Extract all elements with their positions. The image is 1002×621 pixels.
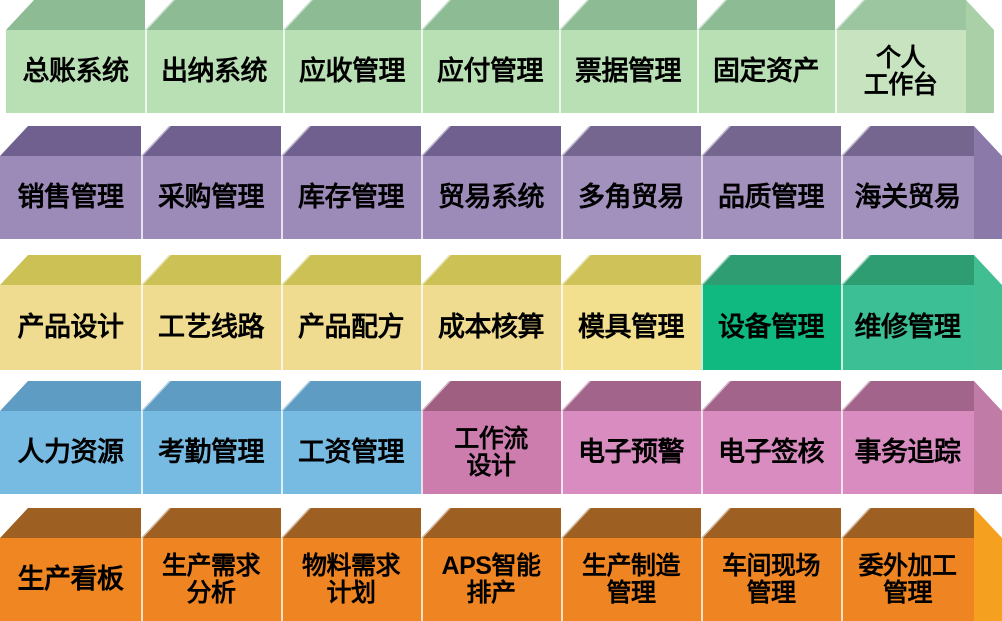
module-label: 电子预警 — [578, 438, 684, 467]
module-block[interactable]: 委外加工 管理 — [841, 508, 974, 621]
block-front-face: 成本核算 — [421, 285, 561, 370]
block-front-face: 车间现场 管理 — [701, 538, 841, 621]
block-top-face — [283, 0, 421, 30]
block-divider — [697, 30, 699, 113]
module-block[interactable]: 票据管理 — [559, 0, 697, 113]
module-label: 电子签核 — [718, 438, 824, 467]
block-divider — [701, 156, 703, 239]
block-front-face: 生产需求 分析 — [141, 538, 281, 621]
block-top-face — [841, 508, 974, 538]
module-label: 成本核算 — [438, 313, 544, 342]
block-top-face — [281, 381, 421, 411]
block-divider — [421, 30, 423, 113]
module-block[interactable]: 多角贸易 — [561, 126, 701, 239]
block-front-face: 事务追踪 — [841, 411, 974, 494]
module-label: 个人 工作台 — [864, 45, 938, 99]
block-front-face: 总账系统 — [6, 30, 145, 113]
block-front-face: APS智能 排产 — [421, 538, 561, 621]
block-front-face: 考勤管理 — [141, 411, 281, 494]
block-top-face — [141, 255, 281, 285]
module-block[interactable]: 应付管理 — [421, 0, 559, 113]
module-block[interactable]: 车间现场 管理 — [701, 508, 841, 621]
block-top-face — [561, 255, 701, 285]
module-block[interactable]: 考勤管理 — [141, 381, 281, 494]
module-label: 票据管理 — [575, 57, 681, 86]
block-divider — [841, 411, 843, 494]
module-row-supply-chain: 销售管理采购管理库存管理贸易系统多角贸易品质管理海关贸易 — [0, 126, 1002, 239]
block-divider — [561, 411, 563, 494]
module-block[interactable]: 生产看板 — [0, 508, 141, 621]
block-divider — [283, 30, 285, 113]
module-label: 车间现场 管理 — [722, 553, 820, 607]
block-top-face — [141, 508, 281, 538]
module-label: 生产看板 — [18, 565, 124, 594]
module-block[interactable]: 库存管理 — [281, 126, 421, 239]
block-top-face — [561, 508, 701, 538]
module-label: 设备管理 — [718, 313, 824, 342]
module-row-finance: 总账系统出纳系统应收管理应付管理票据管理固定资产个人 工作台 — [0, 0, 1002, 113]
block-divider — [835, 30, 837, 113]
module-label: 品质管理 — [718, 183, 824, 212]
module-block[interactable]: 物料需求 计划 — [281, 508, 421, 621]
block-front-face: 工作流 设计 — [421, 411, 561, 494]
block-top-face — [421, 381, 561, 411]
block-front-face: 库存管理 — [281, 156, 421, 239]
block-divider — [701, 285, 703, 370]
block-divider — [561, 538, 563, 621]
module-block[interactable]: 固定资产 — [697, 0, 835, 113]
block-top-face — [561, 381, 701, 411]
module-label: 应收管理 — [299, 57, 405, 86]
module-block[interactable]: 海关贸易 — [841, 126, 974, 239]
block-divider — [281, 538, 283, 621]
module-label: APS智能 排产 — [442, 553, 541, 607]
block-front-face: 出纳系统 — [145, 30, 283, 113]
module-block[interactable]: 生产制造 管理 — [561, 508, 701, 621]
block-front-face: 应收管理 — [283, 30, 421, 113]
block-front-face: 电子签核 — [701, 411, 841, 494]
block-divider — [701, 538, 703, 621]
block-top-face — [841, 255, 974, 285]
block-top-face — [0, 508, 141, 538]
block-top-face — [835, 0, 966, 30]
block-front-face: 物料需求 计划 — [281, 538, 421, 621]
block-side-face — [974, 255, 1002, 370]
module-block[interactable]: 采购管理 — [141, 126, 281, 239]
block-front-face: 品质管理 — [701, 156, 841, 239]
module-label: 应付管理 — [437, 57, 543, 86]
block-top-face — [421, 508, 561, 538]
block-top-face — [421, 255, 561, 285]
module-label: 生产需求 分析 — [162, 553, 260, 607]
block-top-face — [0, 126, 141, 156]
block-front-face: 工资管理 — [281, 411, 421, 494]
module-label: 生产制造 管理 — [582, 553, 680, 607]
module-block[interactable]: 设备管理 — [701, 255, 841, 370]
module-label: 事务追踪 — [855, 438, 961, 467]
module-block[interactable]: 个人 工作台 — [835, 0, 966, 113]
block-top-face — [559, 0, 697, 30]
block-front-face: 生产制造 管理 — [561, 538, 701, 621]
block-front-face: 多角贸易 — [561, 156, 701, 239]
block-top-face — [0, 255, 141, 285]
block-divider — [421, 285, 423, 370]
block-divider — [841, 156, 843, 239]
block-front-face: 人力资源 — [0, 411, 141, 494]
module-block[interactable]: 维修管理 — [841, 255, 974, 370]
module-label: 贸易系统 — [438, 183, 544, 212]
block-divider — [141, 538, 143, 621]
block-front-face: 采购管理 — [141, 156, 281, 239]
module-label: 产品配方 — [298, 313, 404, 342]
module-label: 模具管理 — [578, 313, 684, 342]
module-architecture-diagram: 总账系统出纳系统应收管理应付管理票据管理固定资产个人 工作台销售管理采购管理库存… — [0, 0, 1002, 621]
block-front-face: 产品配方 — [281, 285, 421, 370]
block-top-face — [701, 126, 841, 156]
module-block[interactable]: 贸易系统 — [421, 126, 561, 239]
block-top-face — [145, 0, 283, 30]
block-divider — [559, 30, 561, 113]
block-front-face: 海关贸易 — [841, 156, 974, 239]
module-block[interactable]: 产品配方 — [281, 255, 421, 370]
module-label: 工艺线路 — [158, 313, 264, 342]
block-top-face — [0, 381, 141, 411]
block-front-face: 工艺线路 — [141, 285, 281, 370]
module-block[interactable]: 产品设计 — [0, 255, 141, 370]
module-row-hr-workflow: 人力资源考勤管理工资管理工作流 设计电子预警电子签核事务追踪 — [0, 381, 1002, 494]
block-top-face — [141, 126, 281, 156]
block-divider — [141, 285, 143, 370]
block-front-face: 应付管理 — [421, 30, 559, 113]
module-block[interactable]: 人力资源 — [0, 381, 141, 494]
block-top-face — [281, 126, 421, 156]
module-block[interactable]: 电子预警 — [561, 381, 701, 494]
module-label: 维修管理 — [855, 313, 961, 342]
module-block[interactable]: 总账系统 — [6, 0, 145, 113]
block-side-face — [966, 0, 994, 113]
block-divider — [561, 156, 563, 239]
block-side-face — [974, 126, 1002, 239]
block-top-face — [841, 381, 974, 411]
block-top-face — [6, 0, 145, 30]
block-front-face: 模具管理 — [561, 285, 701, 370]
block-front-face: 维修管理 — [841, 285, 974, 370]
block-divider — [701, 411, 703, 494]
module-label: 多角贸易 — [578, 183, 684, 212]
module-block[interactable]: 模具管理 — [561, 255, 701, 370]
block-top-face — [141, 381, 281, 411]
module-block[interactable]: 工资管理 — [281, 381, 421, 494]
block-top-face — [841, 126, 974, 156]
block-top-face — [701, 255, 841, 285]
module-label: 库存管理 — [298, 183, 404, 212]
block-side-face — [974, 381, 1002, 494]
block-top-face — [701, 381, 841, 411]
block-top-face — [281, 255, 421, 285]
module-block[interactable]: 电子签核 — [701, 381, 841, 494]
block-front-face: 委外加工 管理 — [841, 538, 974, 621]
block-divider — [281, 156, 283, 239]
block-top-face — [421, 126, 561, 156]
block-divider — [281, 285, 283, 370]
block-divider — [421, 156, 423, 239]
block-front-face: 生产看板 — [0, 538, 141, 621]
module-label: 物料需求 计划 — [302, 553, 400, 607]
module-label: 产品设计 — [18, 313, 124, 342]
module-block[interactable]: 工作流 设计 — [421, 381, 561, 494]
module-label: 考勤管理 — [158, 438, 264, 467]
module-row-manufacturing: 生产看板生产需求 分析物料需求 计划APS智能 排产生产制造 管理车间现场 管理… — [0, 508, 1002, 621]
block-top-face — [421, 0, 559, 30]
block-side-face — [974, 508, 1002, 621]
module-label: 人力资源 — [18, 438, 124, 467]
module-label: 委外加工 管理 — [858, 553, 956, 607]
block-divider — [141, 156, 143, 239]
block-front-face: 票据管理 — [559, 30, 697, 113]
block-front-face: 销售管理 — [0, 156, 141, 239]
module-label: 采购管理 — [158, 183, 264, 212]
module-block[interactable]: 品质管理 — [701, 126, 841, 239]
module-label: 工资管理 — [298, 438, 404, 467]
module-block[interactable]: 成本核算 — [421, 255, 561, 370]
module-block[interactable]: 应收管理 — [283, 0, 421, 113]
block-top-face — [697, 0, 835, 30]
block-divider — [421, 411, 423, 494]
module-label: 出纳系统 — [161, 57, 267, 86]
block-top-face — [281, 508, 421, 538]
block-front-face: 电子预警 — [561, 411, 701, 494]
module-block[interactable]: 生产需求 分析 — [141, 508, 281, 621]
block-top-face — [701, 508, 841, 538]
block-divider — [841, 285, 843, 370]
module-label: 销售管理 — [18, 183, 124, 212]
block-divider — [141, 411, 143, 494]
block-top-face — [561, 126, 701, 156]
block-front-face: 贸易系统 — [421, 156, 561, 239]
block-front-face: 设备管理 — [701, 285, 841, 370]
module-row-engineering: 产品设计工艺线路产品配方成本核算模具管理设备管理维修管理 — [0, 255, 1002, 370]
module-block[interactable]: 事务追踪 — [841, 381, 974, 494]
module-block[interactable]: 销售管理 — [0, 126, 141, 239]
block-front-face: 固定资产 — [697, 30, 835, 113]
module-label: 海关贸易 — [855, 183, 961, 212]
block-divider — [421, 538, 423, 621]
module-label: 工作流 设计 — [454, 426, 528, 480]
module-block[interactable]: APS智能 排产 — [421, 508, 561, 621]
module-block[interactable]: 出纳系统 — [145, 0, 283, 113]
block-divider — [561, 285, 563, 370]
module-label: 固定资产 — [713, 57, 819, 86]
module-label: 总账系统 — [23, 57, 129, 86]
block-divider — [841, 538, 843, 621]
block-front-face: 个人 工作台 — [835, 30, 966, 113]
block-divider — [281, 411, 283, 494]
block-divider — [145, 30, 147, 113]
block-front-face: 产品设计 — [0, 285, 141, 370]
module-block[interactable]: 工艺线路 — [141, 255, 281, 370]
